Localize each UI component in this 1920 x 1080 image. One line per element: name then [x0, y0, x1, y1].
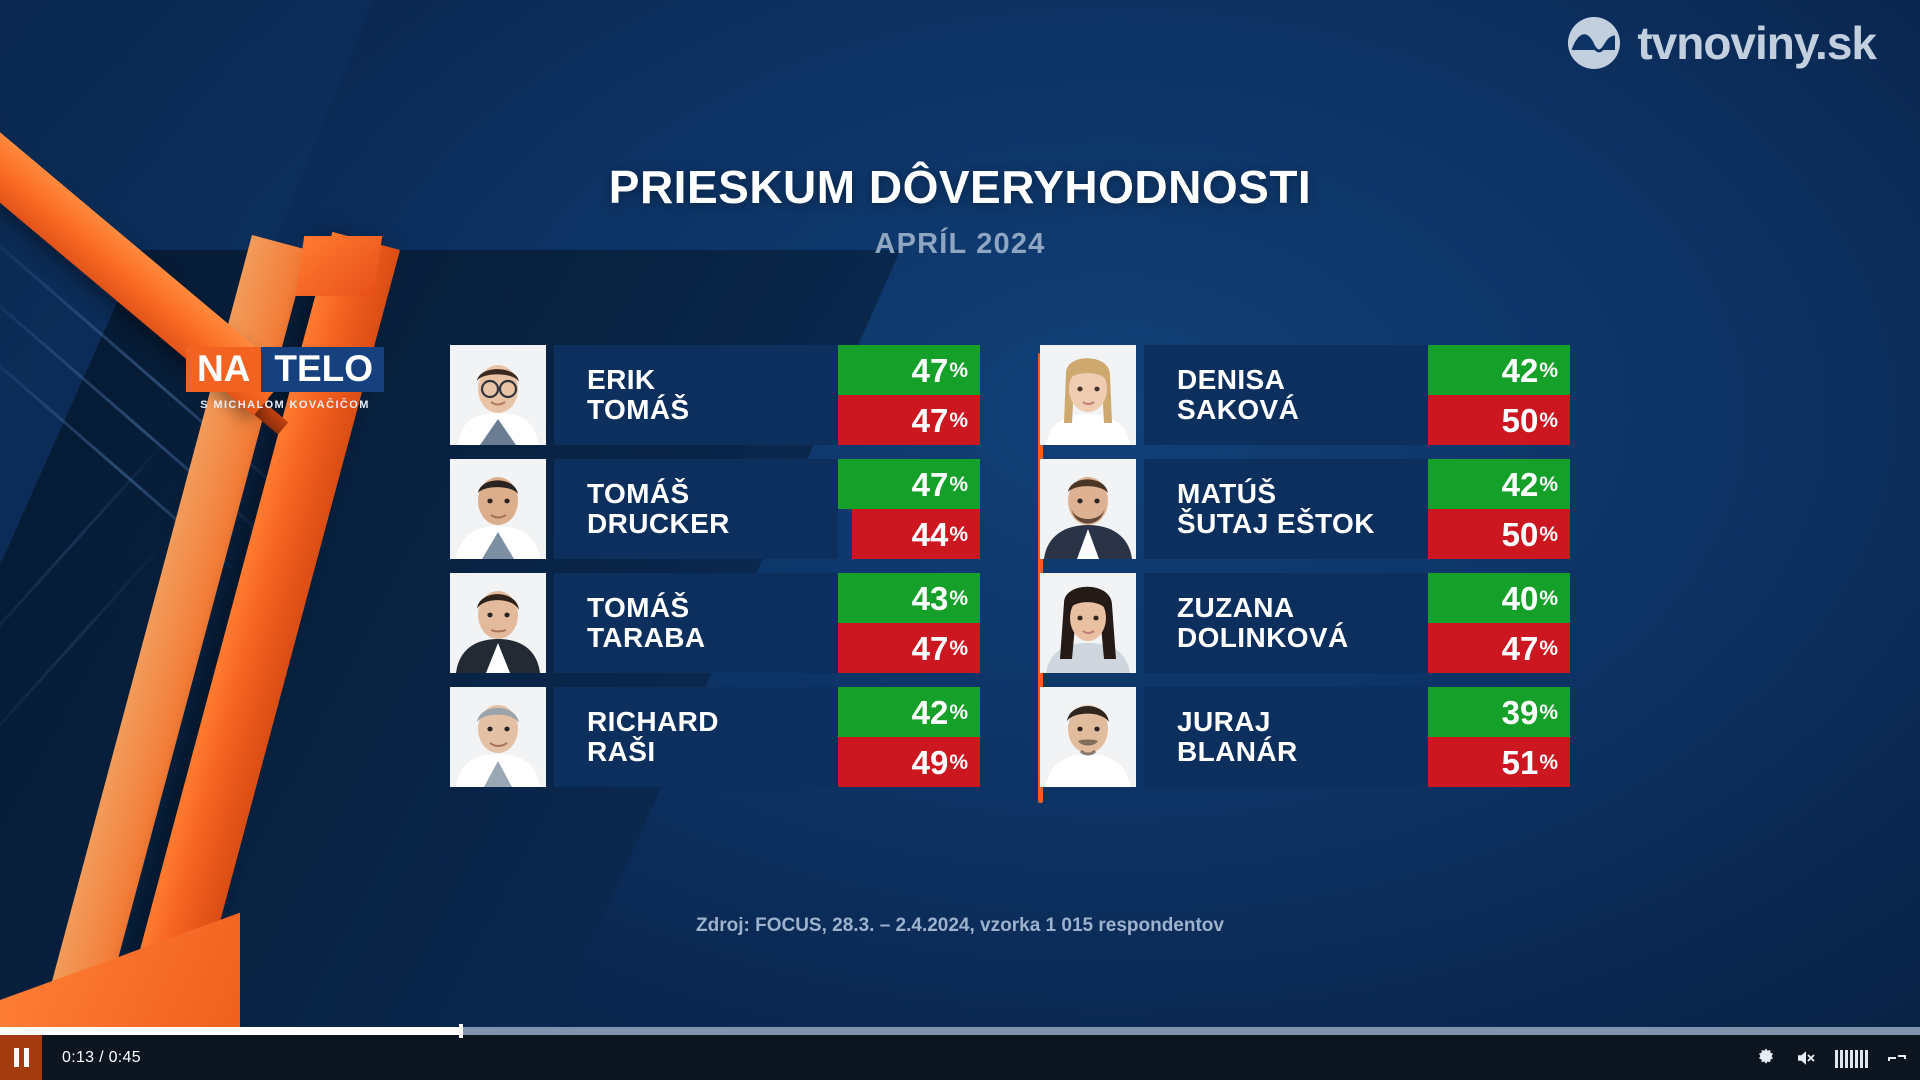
trust-bar: 42 %	[838, 687, 980, 737]
results-column-left: ERIK TOMÁŠ 47 % 47 %	[450, 345, 980, 787]
distrust-bar: 47 %	[1428, 623, 1570, 673]
percent-sign: %	[1538, 638, 1558, 659]
percent-sign: %	[1538, 752, 1558, 773]
percent-sign: %	[948, 474, 968, 495]
trust-value: 39	[1502, 696, 1539, 729]
candidate-first-name: DENISA	[1177, 365, 1428, 395]
video-player-controls: 0:13 / 0:45	[0, 1035, 1920, 1080]
result-bars: 42 % 50 %	[1428, 345, 1570, 445]
poll-results: ERIK TOMÁŠ 47 % 47 %	[450, 345, 1630, 810]
result-bars: 47 % 44 %	[838, 459, 980, 559]
percent-sign: %	[1538, 524, 1558, 545]
result-bars: 47 % 47 %	[838, 345, 980, 445]
na-telo-subtitle: S MICHALOM KOVAČIČOM	[168, 399, 402, 411]
distrust-value: 51	[1502, 746, 1539, 779]
table-row: TOMÁŠ DRUCKER 47 % 44 %	[450, 459, 980, 559]
table-row: TOMÁŠ TARABA 43 % 47 %	[450, 573, 980, 673]
background-line	[0, 445, 162, 692]
results-column-right: DENISA SAKOVÁ 42 % 50 %	[1040, 345, 1570, 787]
trust-value: 42	[1502, 354, 1539, 387]
table-row: MATÚŠ ŠUTAJ EŠTOK 42 % 50 %	[1040, 459, 1570, 559]
distrust-bar: 50 %	[1428, 509, 1570, 559]
progress-played	[0, 1027, 461, 1035]
candidate-name: ERIK TOMÁŠ	[554, 345, 838, 445]
percent-sign: %	[948, 588, 968, 609]
percent-sign: %	[948, 752, 968, 773]
candidate-name: MATÚŠ ŠUTAJ EŠTOK	[1144, 459, 1428, 559]
pause-button[interactable]	[0, 1035, 42, 1080]
result-bars: 40 % 47 %	[1428, 573, 1570, 673]
trust-bar: 47 %	[838, 459, 980, 509]
result-bars: 39 % 51 %	[1428, 687, 1570, 787]
result-bars: 42 % 49 %	[838, 687, 980, 787]
source-note: Zdroj: FOCUS, 28.3. – 2.4.2024, vzorka 1…	[0, 915, 1920, 937]
candidate-last-name: SAKOVÁ	[1177, 395, 1428, 425]
trust-value: 47	[912, 354, 949, 387]
percent-sign: %	[1538, 360, 1558, 381]
candidate-first-name: RICHARD	[587, 707, 838, 737]
wave-circle-icon	[1567, 16, 1621, 70]
avatar	[1040, 459, 1136, 559]
distrust-value: 50	[1502, 404, 1539, 437]
trust-value: 42	[1502, 468, 1539, 501]
page-title: PRIESKUM DÔVERYHODNOSTI	[0, 160, 1920, 214]
candidate-first-name: TOMÁŠ	[587, 593, 838, 623]
candidate-last-name: DOLINKOVÁ	[1177, 623, 1428, 653]
percent-sign: %	[1538, 474, 1558, 495]
time-display: 0:13 / 0:45	[62, 1049, 141, 1067]
distrust-bar: 47 %	[838, 623, 980, 673]
trust-bar: 42 %	[1428, 459, 1570, 509]
candidate-last-name: TOMÁŠ	[587, 395, 838, 425]
distrust-value: 47	[912, 404, 949, 437]
avatar	[450, 687, 546, 787]
trust-bar: 39 %	[1428, 687, 1570, 737]
background-line	[0, 545, 162, 792]
avatar	[450, 573, 546, 673]
distrust-value: 47	[912, 632, 949, 665]
avatar	[450, 345, 546, 445]
avatar	[1040, 687, 1136, 787]
distrust-value: 50	[1502, 518, 1539, 551]
candidate-last-name: RAŠI	[587, 737, 838, 767]
video-stage: tvnoviny.sk NA TELO S MICHALOM KOVAČIČOM…	[0, 0, 1920, 1035]
distrust-value: 47	[1502, 632, 1539, 665]
gear-icon[interactable]	[1755, 1047, 1777, 1069]
candidate-name: TOMÁŠ DRUCKER	[554, 459, 838, 559]
avatar	[450, 459, 546, 559]
table-row: ERIK TOMÁŠ 47 % 47 %	[450, 345, 980, 445]
distrust-bar: 51 %	[1428, 737, 1570, 787]
distrust-value: 49	[912, 746, 949, 779]
candidate-last-name: TARABA	[587, 623, 838, 653]
volume-bars-icon[interactable]	[1835, 1048, 1868, 1068]
result-bars: 43 % 47 %	[838, 573, 980, 673]
player-right-controls	[1755, 1035, 1908, 1080]
candidate-first-name: ERIK	[587, 365, 838, 395]
table-row: RICHARD RAŠI 42 % 49 %	[450, 687, 980, 787]
background-wedge-upper	[0, 0, 373, 560]
candidate-first-name: ZUZANA	[1177, 593, 1428, 623]
trust-value: 40	[1502, 582, 1539, 615]
candidate-first-name: TOMÁŠ	[587, 479, 838, 509]
candidate-last-name: ŠUTAJ EŠTOK	[1177, 509, 1428, 539]
candidate-last-name: DRUCKER	[587, 509, 838, 539]
percent-sign: %	[1538, 702, 1558, 723]
tvnoviny-logo: tvnoviny.sk	[1567, 16, 1876, 70]
na-telo-word-na: NA	[186, 347, 261, 392]
table-row: DENISA SAKOVÁ 42 % 50 %	[1040, 345, 1570, 445]
na-telo-word-telo: TELO	[261, 347, 384, 392]
candidate-name: RICHARD RAŠI	[554, 687, 838, 787]
candidate-last-name: BLANÁR	[1177, 737, 1428, 767]
page-subtitle: APRÍL 2024	[0, 228, 1920, 261]
fullscreen-icon[interactable]	[1886, 1047, 1908, 1069]
progress-handle[interactable]	[459, 1024, 463, 1038]
trust-bar: 40 %	[1428, 573, 1570, 623]
na-telo-logo: NA TELO S MICHALOM KOVAČIČOM	[168, 347, 402, 411]
distrust-bar: 47 %	[838, 395, 980, 445]
candidate-name: JURAJ BLANÁR	[1144, 687, 1428, 787]
progress-bar[interactable]	[0, 1027, 1920, 1035]
candidate-name: DENISA SAKOVÁ	[1144, 345, 1428, 445]
avatar	[1040, 345, 1136, 445]
trust-value: 43	[912, 582, 949, 615]
trust-bar: 47 %	[838, 345, 980, 395]
avatar	[1040, 573, 1136, 673]
percent-sign: %	[948, 524, 968, 545]
percent-sign: %	[948, 702, 968, 723]
brand-name: tvnoviny.sk	[1637, 16, 1876, 70]
distrust-value: 44	[912, 518, 949, 551]
candidate-name: ZUZANA DOLINKOVÁ	[1144, 573, 1428, 673]
table-row: ZUZANA DOLINKOVÁ 40 % 47 %	[1040, 573, 1570, 673]
percent-sign: %	[948, 360, 968, 381]
result-bars: 42 % 50 %	[1428, 459, 1570, 559]
table-row: JURAJ BLANÁR 39 % 51 %	[1040, 687, 1570, 787]
percent-sign: %	[1538, 410, 1558, 431]
distrust-bar: 44 %	[852, 509, 980, 559]
speaker-muted-icon[interactable]	[1795, 1047, 1817, 1069]
candidate-first-name: MATÚŠ	[1177, 479, 1428, 509]
trust-value: 42	[912, 696, 949, 729]
percent-sign: %	[1538, 588, 1558, 609]
candidate-name: TOMÁŠ TARABA	[554, 573, 838, 673]
trust-bar: 43 %	[838, 573, 980, 623]
trust-value: 47	[912, 468, 949, 501]
player-left-controls: 0:13 / 0:45	[0, 1035, 141, 1080]
percent-sign: %	[948, 410, 968, 431]
distrust-bar: 49 %	[838, 737, 980, 787]
percent-sign: %	[948, 638, 968, 659]
candidate-first-name: JURAJ	[1177, 707, 1428, 737]
distrust-bar: 50 %	[1428, 395, 1570, 445]
trust-bar: 42 %	[1428, 345, 1570, 395]
